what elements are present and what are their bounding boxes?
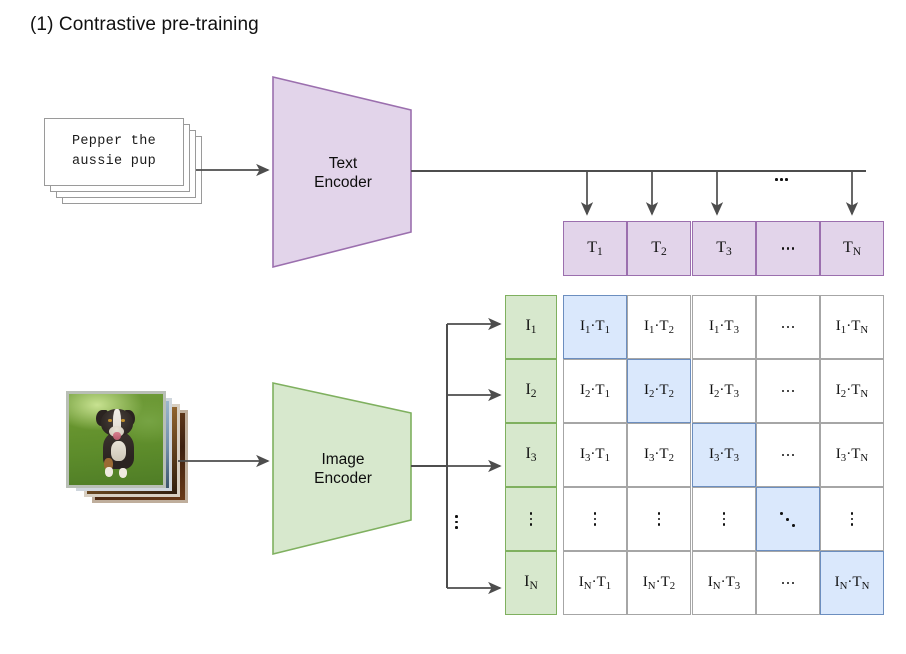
figure-title: (1) Contrastive pre-training [30,14,259,36]
matrix-cell-r4-c1 [563,487,627,551]
matrix-cell-r3-c3: I3·T3 [692,423,756,487]
matrix-cell-r2-c3: I2·T3 [692,359,756,423]
matrix-cell-r4-c3 [692,487,756,551]
dog-chest-shape [111,441,126,461]
matrix-cell-r1-c3: I1·T3 [692,295,756,359]
matrix-cell-r4-c5 [820,487,884,551]
matrix-cell-r2-c2: I2·T2 [627,359,691,423]
image-encoder-shape [273,383,411,554]
matrix-cell-r2-c5: I2·TN [820,359,884,423]
matrix-cell-r3-c2: I3·T2 [627,423,691,487]
matrix-cell-r5-c5: IN·TN [820,551,884,615]
image-embedding-cell-i1: I1 [505,295,557,359]
matrix-cell-r1-c5: I1·TN [820,295,884,359]
matrix-cell-r5-c4 [756,551,820,615]
dog-eye-left [108,419,112,423]
caption-card-front: Pepper the aussie pup [44,118,184,186]
image-encoder-label: Image Encoder [282,450,404,489]
matrix-cell-r2-c1: I2·T1 [563,359,627,423]
image-embedding-cell-i2: I2 [505,359,557,423]
matrix-cell-r5-c2: IN·T2 [627,551,691,615]
text-encoder-label: Text Encoder [288,154,398,193]
image-embedding-cell-ellipsis [505,487,557,551]
text-embedding-cell-t1: T1 [563,221,627,276]
matrix-cell-r5-c1: IN·T1 [563,551,627,615]
dog-paw-right [119,468,127,478]
image-bus-ellipsis [455,515,458,529]
image-embedding-cell-i3: I3 [505,423,557,487]
figure-canvas: (1) Contrastive pre-training Pepper the … [0,0,906,654]
matrix-cell-r3-c4 [756,423,820,487]
image-embedding-cell-in: IN [505,551,557,615]
matrix-cell-r3-c5: I3·TN [820,423,884,487]
dog-eye-right [121,419,125,423]
dog-paw-left [105,467,113,477]
text-embedding-cell-ellipsis [756,221,820,276]
text-bus-ellipsis [775,178,788,181]
image-card-stack [66,391,198,507]
text-embedding-cell-t2: T2 [627,221,691,276]
caption-card-stack: Pepper the aussie pup [44,118,220,206]
photo-front-dog [66,391,166,488]
matrix-cell-r5-c3: IN·T3 [692,551,756,615]
matrix-cell-r3-c1: I3·T1 [563,423,627,487]
matrix-cell-r1-c1: I1·T1 [563,295,627,359]
text-embedding-cell-tn: TN [820,221,884,276]
matrix-cell-r4-c4 [756,487,820,551]
caption-text: Pepper the aussie pup [72,132,156,171]
matrix-cell-r4-c2 [627,487,691,551]
text-embedding-cell-t3: T3 [692,221,756,276]
matrix-cell-r2-c4 [756,359,820,423]
matrix-cell-r1-c2: I1·T2 [627,295,691,359]
text-encoder-shape [273,77,411,267]
matrix-cell-r1-c4 [756,295,820,359]
